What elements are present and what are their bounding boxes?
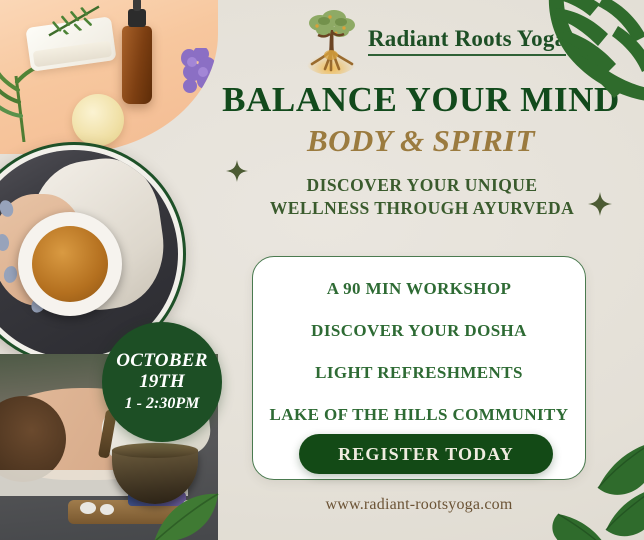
detail-item: A 90 MIN WORKSHOP <box>327 279 512 299</box>
brand-logo: Radiant Roots Yoga <box>300 8 566 74</box>
tea-liquid <box>32 226 108 302</box>
essential-oil-bottle <box>122 26 152 104</box>
sparkle-icon <box>226 160 248 182</box>
detail-item: LIGHT REFRESHMENTS <box>315 363 523 383</box>
date-badge-month: OCTOBER <box>116 351 208 371</box>
detail-item: LAKE OF THE HILLS COMMUNITY <box>270 405 569 425</box>
stone <box>80 502 96 514</box>
sparkle-icon <box>588 192 612 216</box>
stone <box>100 504 114 515</box>
headline-secondary: BODY & SPIRIT <box>206 125 636 156</box>
headline-description: DISCOVER YOUR UNIQUE WELLNESS THROUGH AY… <box>222 174 622 220</box>
detail-item: DISCOVER YOUR DOSHA <box>311 321 527 341</box>
flyer-canvas: OCTOBER 19TH 1 - 2:30PM <box>0 0 644 540</box>
date-badge-time: 1 - 2:30PM <box>125 395 200 413</box>
tree-icon <box>300 8 362 74</box>
register-button[interactable]: REGISTER TODAY <box>299 434 553 474</box>
date-badge-day: 19TH <box>139 371 184 393</box>
description-line-1: DISCOVER YOUR UNIQUE <box>222 174 622 197</box>
leaf-accent-icon <box>150 488 220 540</box>
description-line-2: WELLNESS THROUGH AYURVEDA <box>222 197 622 220</box>
monstera-leaf-icon <box>530 0 644 104</box>
date-badge: OCTOBER 19TH 1 - 2:30PM <box>102 322 222 442</box>
cream-jar <box>72 94 124 146</box>
